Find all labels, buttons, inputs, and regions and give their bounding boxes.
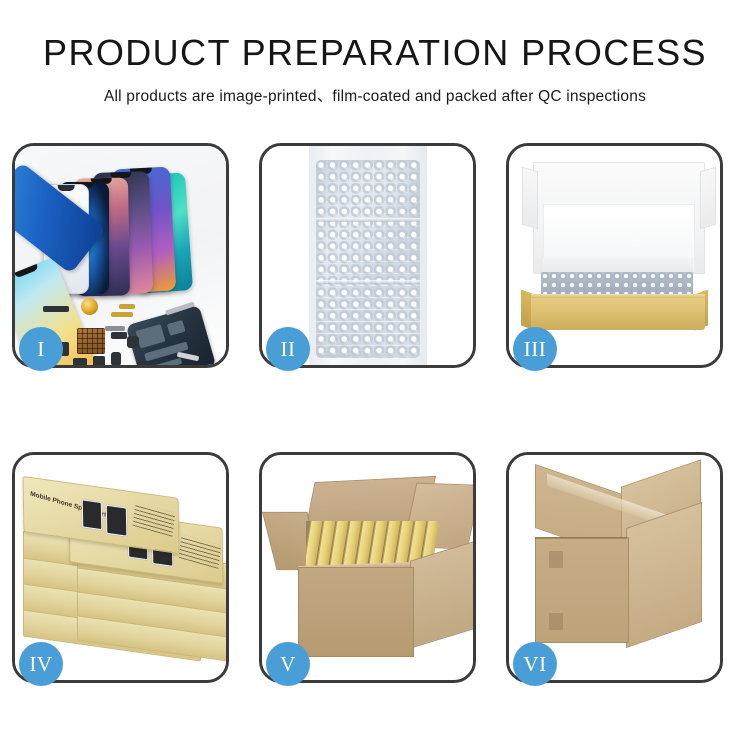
flex-cable-3 xyxy=(105,326,125,331)
carton-right-side xyxy=(626,502,702,648)
bubble-highlights xyxy=(316,160,420,358)
step-badge-5: V xyxy=(266,642,310,686)
part-strip-4 xyxy=(73,358,87,365)
box-spec-lines-lower xyxy=(179,534,222,569)
carton-handle-tab-top xyxy=(549,551,563,568)
flex-cable-1 xyxy=(111,312,133,317)
wrap-seam-top xyxy=(316,218,420,222)
step-badge-4: IV xyxy=(19,642,63,686)
carton-handle-tab-bottom xyxy=(549,613,563,630)
part-strip-6 xyxy=(111,352,121,365)
step-badge-1: I xyxy=(19,327,63,371)
flex-cable-2 xyxy=(119,304,135,309)
carton-front-panel xyxy=(298,567,414,657)
box-screen-image-upper-1 xyxy=(82,499,102,530)
process-step-4[interactable]: Mobile Phone Spare Parts Mobile Phone Sp… xyxy=(12,452,229,683)
speaker-mesh-part xyxy=(81,298,98,315)
step-badge-2: II xyxy=(266,327,310,371)
wrap-seam-mid xyxy=(316,280,420,284)
process-step-2[interactable]: II xyxy=(259,143,476,368)
process-step-1[interactable]: I xyxy=(12,143,229,368)
page-header: PRODUCT PREPARATION PROCESS All products… xyxy=(0,0,750,106)
process-step-5[interactable]: V xyxy=(259,452,476,683)
part-strip-7 xyxy=(111,332,127,339)
bubble-wrapped-product xyxy=(316,160,420,358)
carton-side-panel xyxy=(410,541,473,649)
box-screen-image-upper-2 xyxy=(106,505,128,537)
process-step-6[interactable]: VI xyxy=(506,452,723,683)
box-front-panel xyxy=(531,296,705,330)
carton-flap-seam xyxy=(535,537,627,539)
step-badge-3: III xyxy=(513,327,557,371)
process-step-3[interactable]: III xyxy=(506,143,723,368)
page-title: PRODUCT PREPARATION PROCESS xyxy=(0,34,750,72)
process-step-grid: I II III xyxy=(12,143,738,683)
copper-grid-part xyxy=(77,328,105,354)
page-subtitle: All products are image-printed、film-coat… xyxy=(0,84,750,106)
box-front-rim xyxy=(531,294,705,298)
part-strip-1 xyxy=(43,306,69,312)
part-strip-5 xyxy=(93,356,105,365)
box-stack: Mobile Phone Spare Parts Mobile Phone Sp… xyxy=(21,475,226,671)
box-spec-lines-upper xyxy=(133,502,176,537)
part-camera-module xyxy=(127,336,139,348)
step-badge-6: VI xyxy=(513,642,557,686)
